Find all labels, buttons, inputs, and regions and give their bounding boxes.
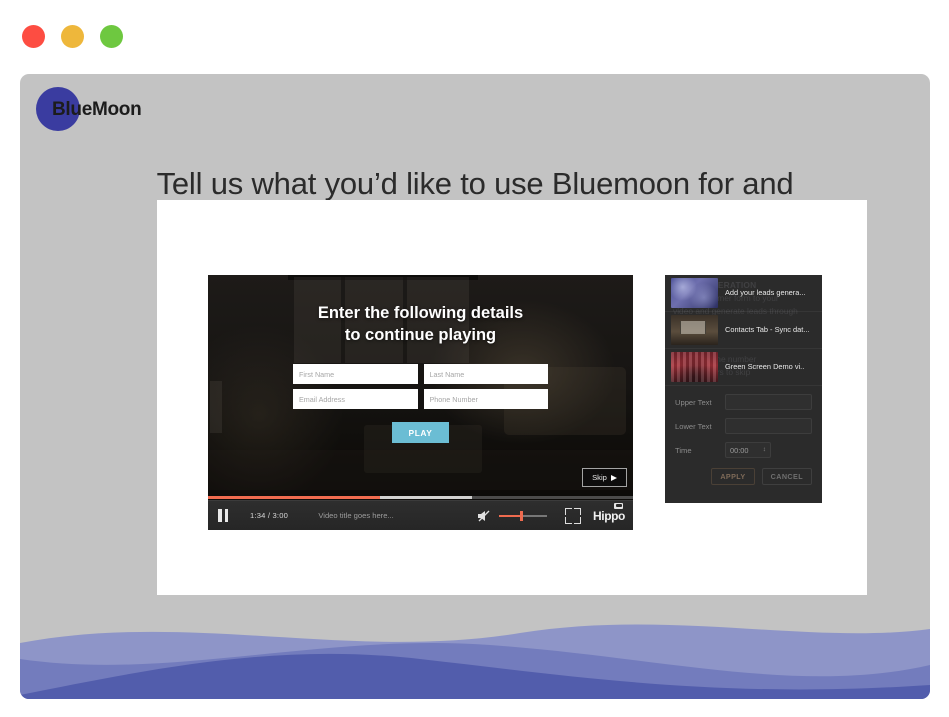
video-progress-bar[interactable] [208,496,633,499]
cancel-button[interactable]: CANCEL [762,468,812,485]
time-row: Time 00:00 ↕ [675,442,812,458]
skip-label: Skip [592,473,607,482]
page-headline: Tell us what you’d like to use Bluemoon … [20,166,930,202]
time-display: 1:34 / 3:00 [250,511,288,520]
window-titlebar [0,0,949,74]
upper-text-label: Upper Text [675,398,725,407]
phone-number-input[interactable] [424,389,549,409]
video-title-item: Add your leads genera... [725,289,806,298]
play-submit-button[interactable]: PLAY [392,422,449,443]
list-item[interactable]: Add your leads genera... [665,275,822,312]
list-item[interactable]: Green Screen Demo vi.. [665,349,822,386]
volume-slider[interactable] [499,509,547,523]
mute-glyph [476,508,492,524]
upper-text-row: Upper Text [675,394,812,410]
video-thumbnail [671,352,718,382]
panel-action-row: APPLY CANCEL [665,466,822,485]
video-thumbnail [671,278,718,308]
lead-capture-overlay: Enter the following details to continue … [208,275,633,530]
pause-icon[interactable] [208,501,238,531]
apply-button[interactable]: APPLY [711,468,754,485]
video-player[interactable]: Enter the following details to continue … [208,275,633,530]
lower-text-label: Lower Text [675,422,725,431]
video-settings-panel: LEAD GENERATION Add a customer form to y… [665,275,822,503]
video-thumbnail [671,315,718,345]
time-stepper[interactable]: 00:00 ↕ [725,442,771,458]
lead-capture-form [293,364,548,409]
player-brand-logo: Hippo [593,510,625,522]
brand-name: BlueMoon [52,99,141,121]
time-label: Time [675,446,725,455]
brand-logo[interactable]: BlueMoon [36,87,141,133]
overlay-settings-form: Upper Text Lower Text Time 00:00 ↕ [665,386,822,458]
skip-button[interactable]: Skip [582,468,627,487]
upper-text-input[interactable] [725,394,812,410]
minimize-window-button[interactable] [61,25,84,48]
close-window-button[interactable] [22,25,45,48]
mute-icon[interactable] [476,508,492,524]
time-value: 00:00 [730,446,749,455]
maximize-window-button[interactable] [100,25,123,48]
progress-played [208,496,380,499]
app-window: BlueMoon Tell us what you’d like to use … [0,0,949,717]
fullscreen-icon[interactable] [565,508,581,524]
camera-icon [614,503,623,509]
player-logo-text: Hippo [593,509,625,523]
volume-knob[interactable] [520,511,523,521]
wave-svg [20,599,930,699]
video-title-label: Video title goes here... [288,511,476,520]
lower-text-input[interactable] [725,418,812,434]
overlay-title-line-1: Enter the following details [318,302,523,324]
video-title-item: Contacts Tab - Sync dat... [725,326,810,335]
overlay-title-line-2: to continue playing [345,324,496,346]
traffic-light-group [22,25,123,48]
wave-footer-decoration [20,599,930,699]
last-name-input[interactable] [424,364,549,384]
lower-text-row: Lower Text [675,418,812,434]
video-title-item: Green Screen Demo vi.. [725,363,804,372]
video-control-bar: 1:34 / 3:00 Video title goes here... [208,500,633,530]
volume-fill [499,515,521,517]
play-triangle-icon [611,475,617,481]
email-address-input[interactable] [293,389,418,409]
stepper-arrows-icon[interactable]: ↕ [763,447,766,454]
content-modal: Enter the following details to continue … [157,200,867,595]
first-name-input[interactable] [293,364,418,384]
list-item[interactable]: Contacts Tab - Sync dat... [665,312,822,349]
page-canvas: BlueMoon Tell us what you’d like to use … [20,74,930,699]
